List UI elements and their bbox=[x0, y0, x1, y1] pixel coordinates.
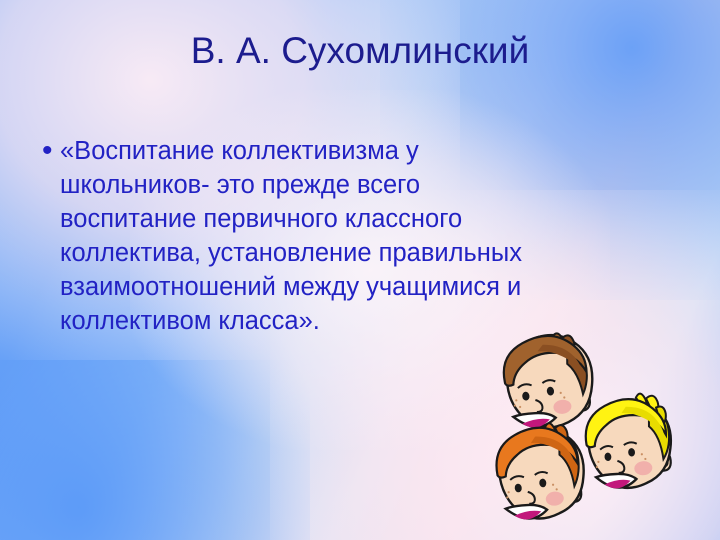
quote-line: школьников- это прежде всего bbox=[60, 168, 678, 202]
quote-line: «Воспитание коллективизма у bbox=[60, 134, 678, 168]
bullet-marker-icon: • bbox=[38, 134, 60, 168]
face-blonde-haired-boy bbox=[582, 391, 676, 492]
slide-body: • «Воспитание коллективизма у школьников… bbox=[38, 134, 678, 338]
bullet-list-item: • «Воспитание коллективизма у школьников… bbox=[38, 134, 678, 338]
children-illustration bbox=[470, 325, 720, 540]
bullet-quote-text: «Воспитание коллективизма у школьников- … bbox=[60, 134, 678, 338]
face-brown-haired-boy bbox=[500, 330, 598, 433]
quote-line: коллектива, установление правильных bbox=[60, 236, 678, 270]
face-orange-haired-boy bbox=[492, 420, 589, 524]
slide-title: В. А. Сухомлинский bbox=[0, 28, 720, 74]
quote-line: воспитание первичного классного bbox=[60, 202, 678, 236]
quote-line: взаимоотношений между учащимися и bbox=[60, 270, 678, 304]
presentation-slide: В. А. Сухомлинский • «Воспитание коллект… bbox=[0, 0, 720, 540]
